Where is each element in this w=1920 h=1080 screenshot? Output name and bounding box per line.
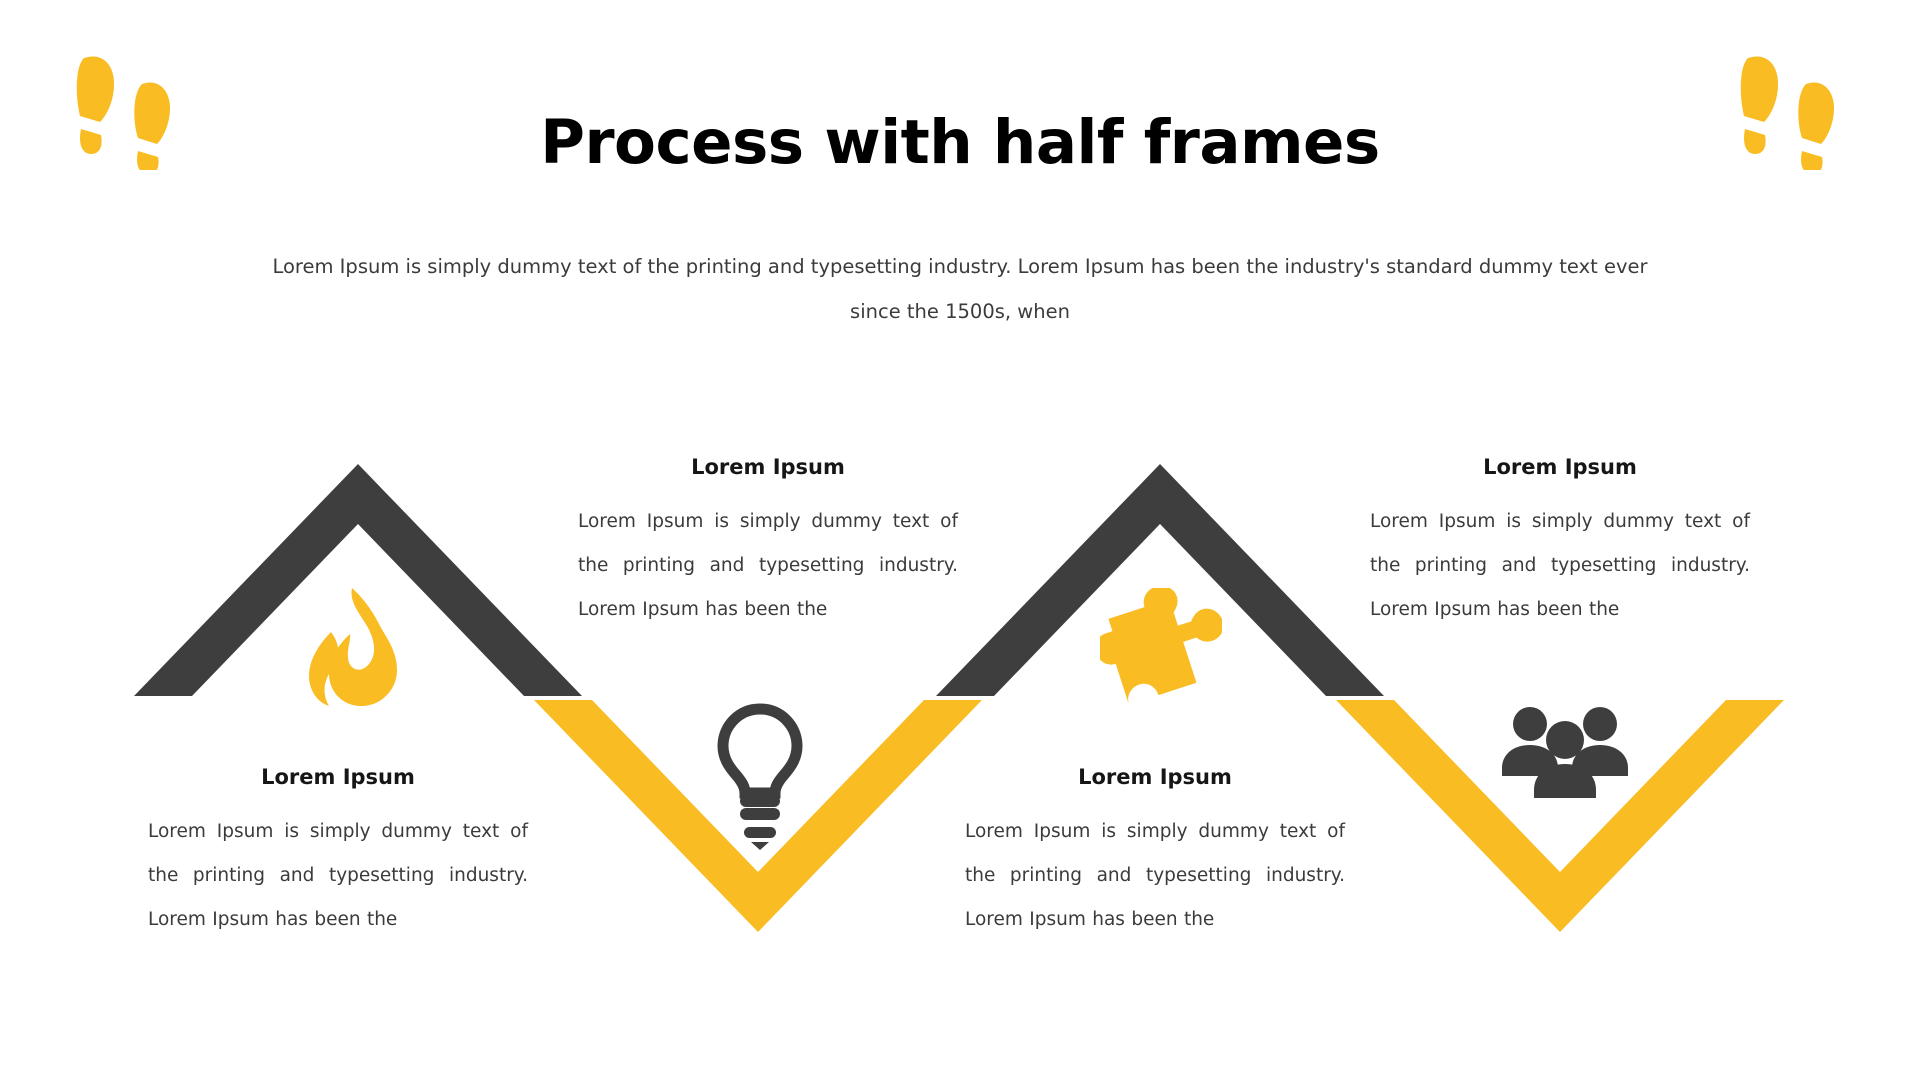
lightbulb-base-icon: [740, 808, 780, 850]
step-2-text: Lorem Ipsum Lorem Ipsum is simply dummy …: [578, 455, 958, 632]
lightbulb-icon: [712, 702, 808, 820]
step-3-icon-wrapper[interactable]: [1100, 588, 1222, 708]
puzzle-piece-icon: [1100, 588, 1222, 708]
process-diagram: Lorem Ipsum Lorem Ipsum is simply dummy …: [0, 0, 1920, 1080]
flame-icon: [305, 588, 401, 706]
step-3-text: Lorem Ipsum Lorem Ipsum is simply dummy …: [965, 765, 1345, 942]
step-1-text: Lorem Ipsum Lorem Ipsum is simply dummy …: [148, 765, 528, 942]
people-group-icon: [1500, 706, 1630, 798]
step-4-text: Lorem Ipsum Lorem Ipsum is simply dummy …: [1370, 455, 1750, 632]
step-2-icon-wrapper[interactable]: [712, 702, 808, 820]
step-4-icon-wrapper[interactable]: [1500, 706, 1630, 798]
step-2-body: Lorem Ipsum is simply dummy text of the …: [578, 500, 958, 632]
step-1-icon-wrapper[interactable]: [305, 588, 401, 706]
step-1-heading: Lorem Ipsum: [148, 765, 528, 790]
step-2-heading: Lorem Ipsum: [578, 455, 958, 480]
step-1-body: Lorem Ipsum is simply dummy text of the …: [148, 810, 528, 942]
step-3-body: Lorem Ipsum is simply dummy text of the …: [965, 810, 1345, 942]
step-3-heading: Lorem Ipsum: [965, 765, 1345, 790]
step-4-heading: Lorem Ipsum: [1370, 455, 1750, 480]
step-2-icon-base: [740, 808, 780, 850]
step-4-body: Lorem Ipsum is simply dummy text of the …: [1370, 500, 1750, 632]
